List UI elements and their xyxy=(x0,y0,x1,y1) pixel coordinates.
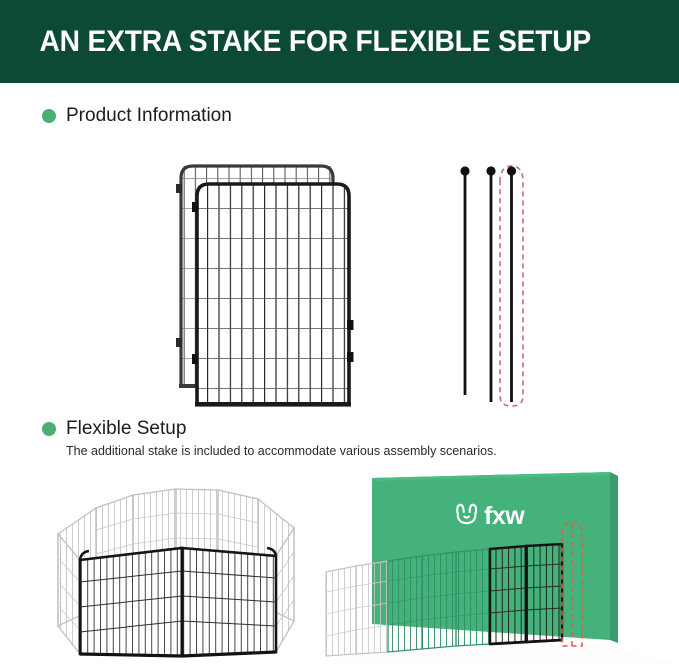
svg-text:fxw: fxw xyxy=(484,502,525,530)
playpen-highlighted-panels xyxy=(80,548,276,656)
section-label-product-information: Product Information xyxy=(66,105,232,127)
octagonal-playpen-illustration xyxy=(36,468,336,664)
wire-fence-panels-illustration xyxy=(150,148,380,410)
section-label-flexible-setup: Flexible Setup xyxy=(66,418,186,440)
fence-panels-over-wall xyxy=(388,549,490,652)
bullet-dot-icon xyxy=(42,422,56,436)
section-heading-product-information: Product Information xyxy=(42,105,232,127)
infographic-page: AN EXTRA STAKE FOR FLEXIBLE SETUP Produc… xyxy=(0,0,679,664)
fence-ghost-panels xyxy=(326,561,388,656)
section-subtitle-flexible-setup: The additional stake is included to acco… xyxy=(66,444,497,458)
stake-2 xyxy=(486,166,495,402)
stake-1 xyxy=(460,166,469,395)
section-heading-flexible-setup: Flexible Setup xyxy=(42,418,186,440)
bullet-dot-icon xyxy=(42,109,56,123)
fxw-wordmark: fxw xyxy=(484,502,525,530)
page-title: AN EXTRA STAKE FOR FLEXIBLE SETUP xyxy=(0,25,591,59)
header-band: AN EXTRA STAKE FOR FLEXIBLE SETUP xyxy=(0,0,679,83)
fence-panel-front xyxy=(192,184,354,407)
fence-highlighted-panels xyxy=(490,544,562,644)
stake-3-highlighted xyxy=(507,166,516,402)
ground-stakes-illustration xyxy=(448,160,558,412)
fence-against-wall-illustration: fxw xyxy=(338,468,679,664)
